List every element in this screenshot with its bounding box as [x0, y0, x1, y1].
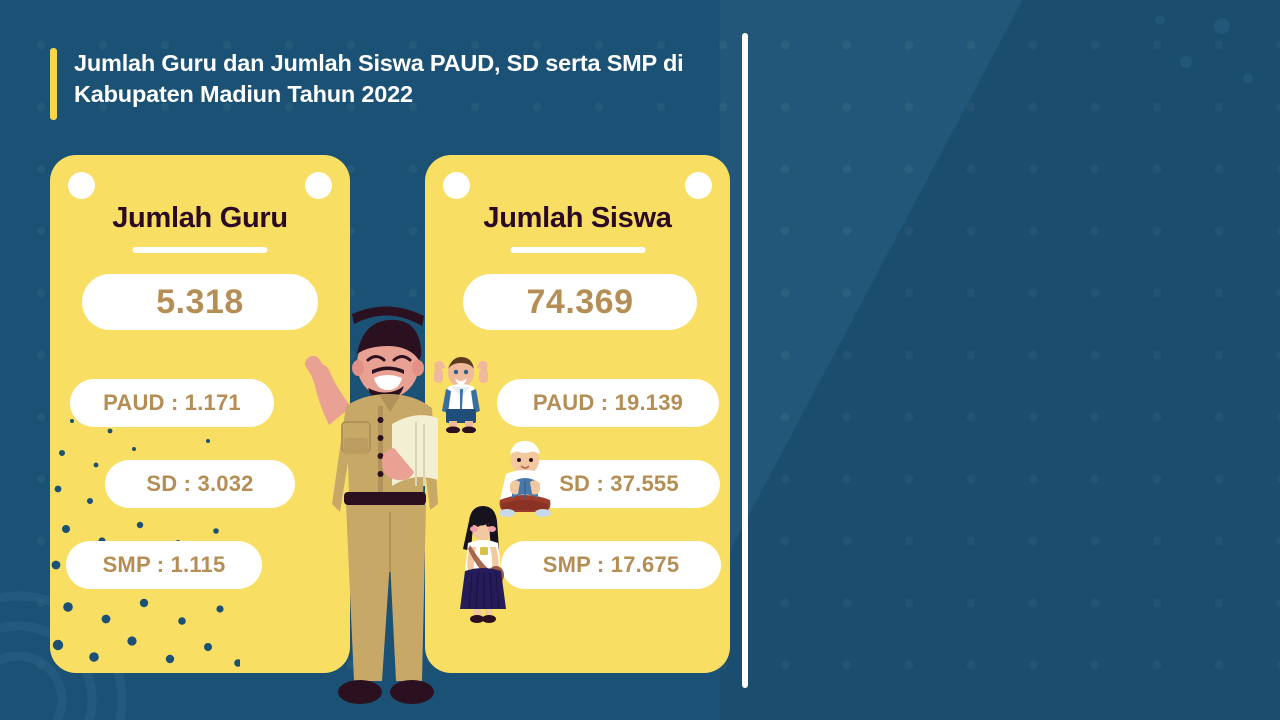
card-punch-hole-right	[305, 172, 332, 199]
card-guru-row-sd: SD : 3.032	[105, 460, 295, 508]
card-guru-row-paud: PAUD : 1.171	[70, 379, 274, 427]
panel-divider	[742, 33, 748, 688]
card-punch-hole-left	[443, 172, 470, 199]
card-siswa-total-value: 74.369	[463, 274, 697, 330]
student-paud-illustration	[428, 355, 494, 433]
right-panel: Jumlah Guru dan Jumlah Siswa jenjang pen…	[745, 0, 1280, 720]
card-siswa-row-smp: SMP : 17.675	[501, 541, 721, 589]
left-panel-title-text: Jumlah Guru dan Jumlah Siswa PAUD, SD se…	[74, 48, 745, 120]
card-punch-hole-left	[68, 172, 95, 199]
card-guru-title: Jumlah Guru	[50, 202, 350, 235]
card-guru-row-smp: SMP : 1.115	[66, 541, 262, 589]
card-siswa-title: Jumlah Siswa	[425, 202, 730, 235]
card-punch-hole-right	[685, 172, 712, 199]
card-guru-underline	[133, 247, 268, 253]
student-smp-illustration	[452, 505, 514, 625]
card-siswa-underline	[510, 247, 645, 253]
left-panel: Jumlah Guru dan Jumlah Siswa PAUD, SD se…	[0, 0, 745, 720]
card-siswa-row-paud: PAUD : 19.139	[497, 379, 719, 427]
title-accent-bar	[50, 48, 57, 120]
left-panel-title: Jumlah Guru dan Jumlah Siswa PAUD, SD se…	[50, 48, 745, 120]
